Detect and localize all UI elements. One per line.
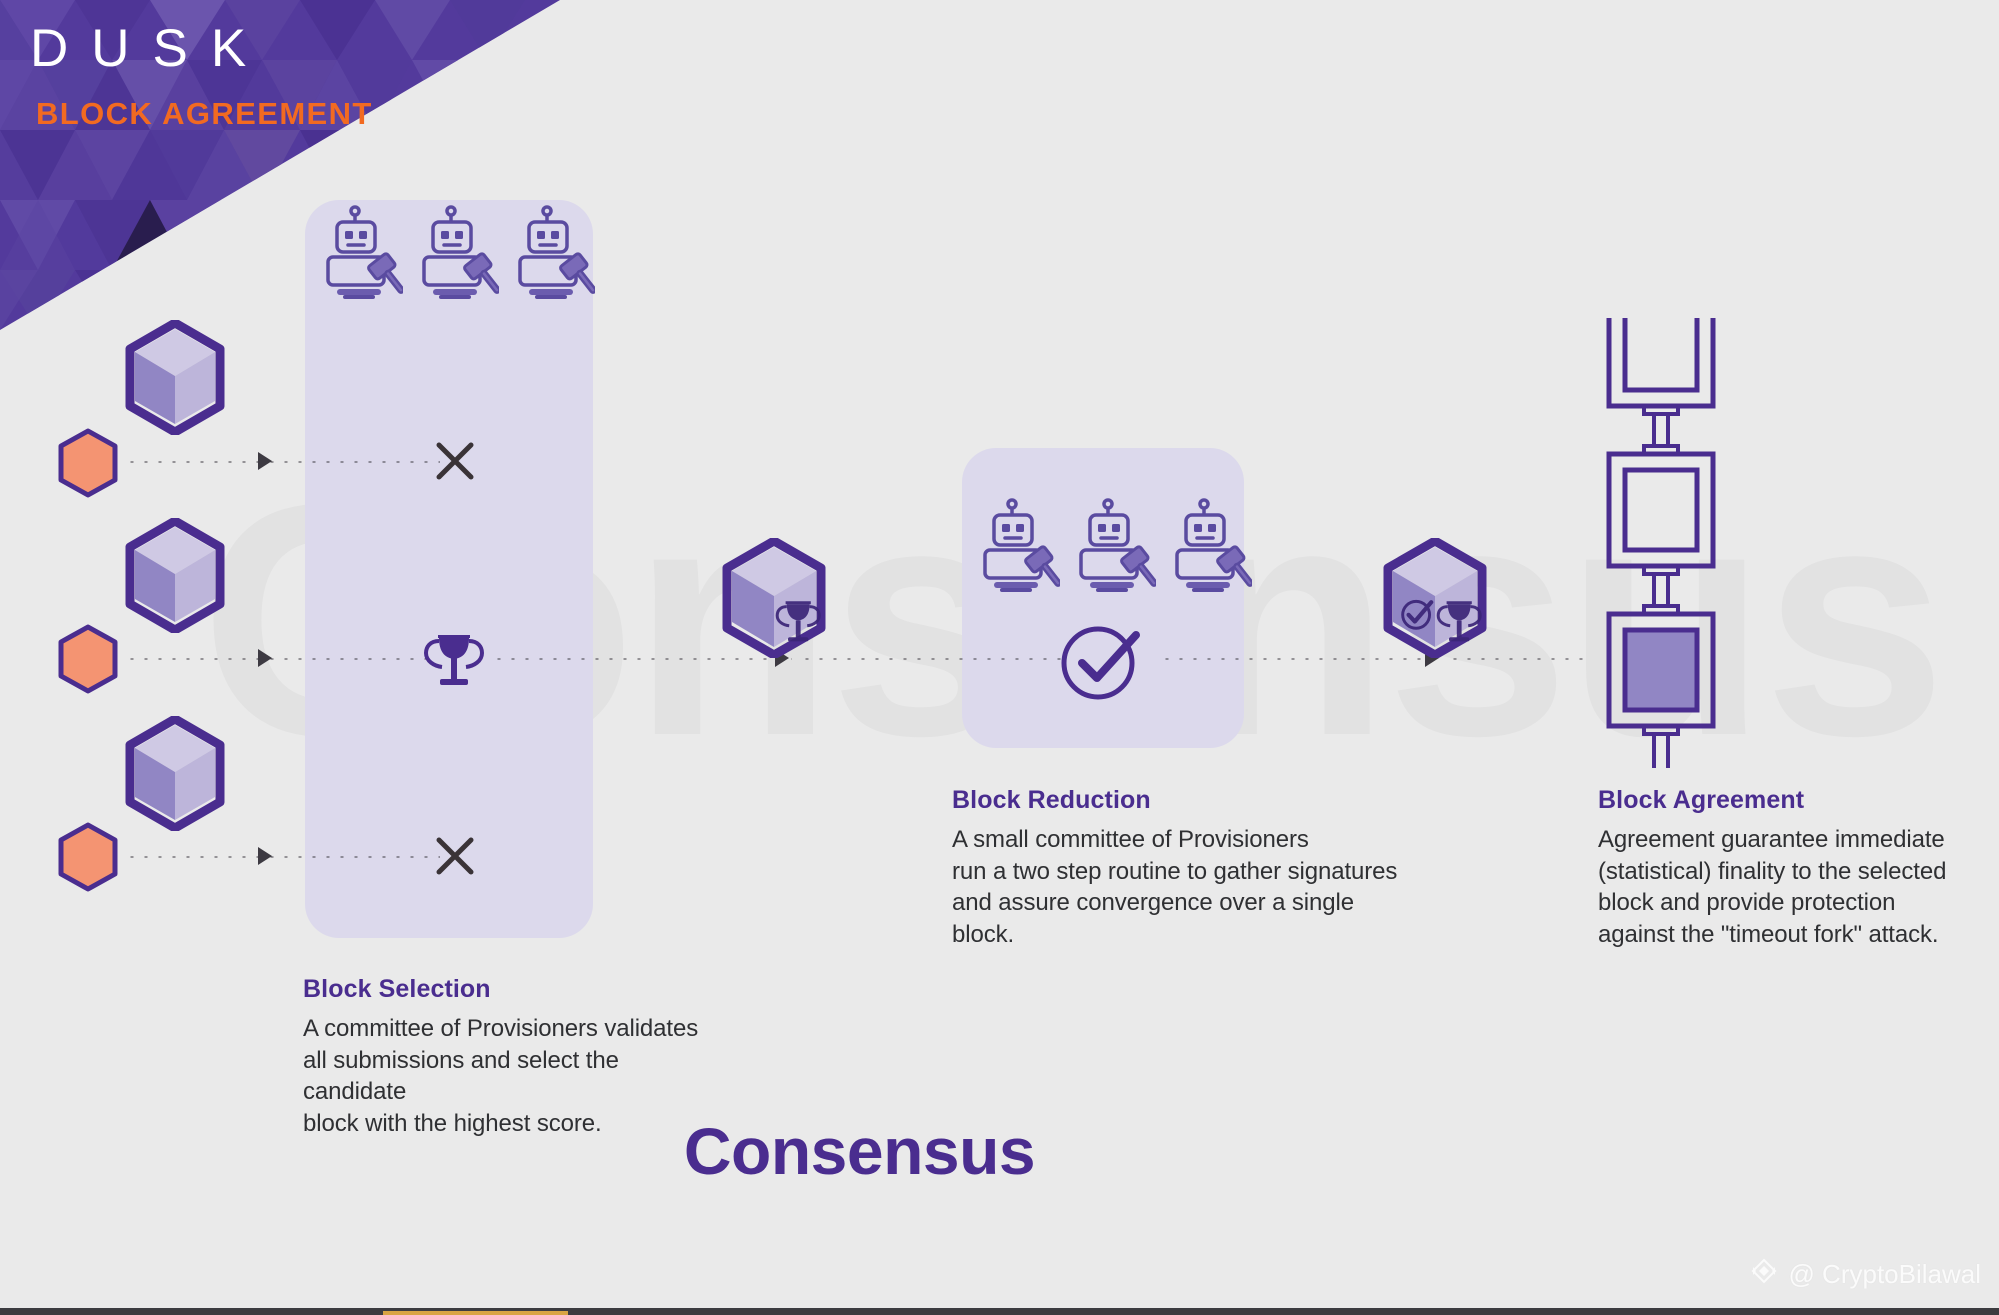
diamond-logo-icon	[1749, 1256, 1779, 1293]
robot-judge-icon	[1174, 498, 1252, 598]
page-title-text: Consensus	[684, 1114, 1035, 1188]
check-circle-icon	[1056, 615, 1146, 710]
blockchain-stack-icon	[1596, 318, 1726, 773]
caption-body: A small committee of Provisioners run a …	[952, 824, 1422, 951]
transaction-hexagon-lane-3	[57, 822, 119, 892]
robot-judge-icon	[982, 498, 1060, 598]
robot-judge-icon	[517, 205, 595, 305]
candidate-cube-lane-2	[125, 518, 225, 638]
bottom-strip	[0, 1308, 1999, 1315]
caption-title: Block Selection	[303, 975, 723, 1004]
robot-judge-icon	[421, 205, 499, 305]
agreed-block-cube	[1383, 538, 1488, 663]
transaction-hexagon-lane-1	[57, 428, 119, 498]
caption-block-agreement: Block Agreement Agreement guarantee imme…	[1598, 786, 1998, 951]
robot-judge-icon	[1078, 498, 1156, 598]
provisioner-group-selection	[325, 205, 595, 305]
provisioner-group-reduction	[982, 498, 1252, 598]
rail-lane-3	[125, 855, 440, 859]
rail-lane-2-c	[800, 657, 1070, 661]
caption-block-reduction: Block Reduction A small committee of Pro…	[952, 786, 1422, 951]
reject-x-lane-3	[434, 835, 476, 877]
arrow-lane-1	[258, 452, 272, 470]
transaction-hexagon-lane-2	[57, 624, 119, 694]
credit-watermark: @ CryptoBilawal	[1749, 1256, 1981, 1293]
brand-logo: DUSK	[30, 18, 269, 79]
infographic-canvas: Consensus	[0, 0, 1999, 1315]
page-title: Consensus	[0, 1113, 1999, 1189]
rail-lane-1	[125, 460, 440, 464]
credit-handle: @ CryptoBilawal	[1788, 1259, 1981, 1290]
candidate-cube-lane-3	[125, 716, 225, 836]
selected-block-cube	[722, 538, 827, 663]
rail-lane-2-a	[125, 657, 435, 661]
arrow-lane-2-a	[258, 649, 272, 667]
reject-x-lane-1	[434, 440, 476, 482]
brand-subtitle: BLOCK AGREEMENT	[36, 96, 373, 132]
arrow-lane-3	[258, 847, 272, 865]
robot-judge-icon	[325, 205, 403, 305]
bottom-strip-accent	[383, 1311, 568, 1315]
trophy-icon-winner	[418, 625, 490, 702]
caption-title: Block Agreement	[1598, 786, 1998, 815]
caption-body: Agreement guarantee immediate (statistic…	[1598, 824, 1998, 951]
candidate-cube-lane-1	[125, 320, 225, 440]
caption-title: Block Reduction	[952, 786, 1422, 815]
